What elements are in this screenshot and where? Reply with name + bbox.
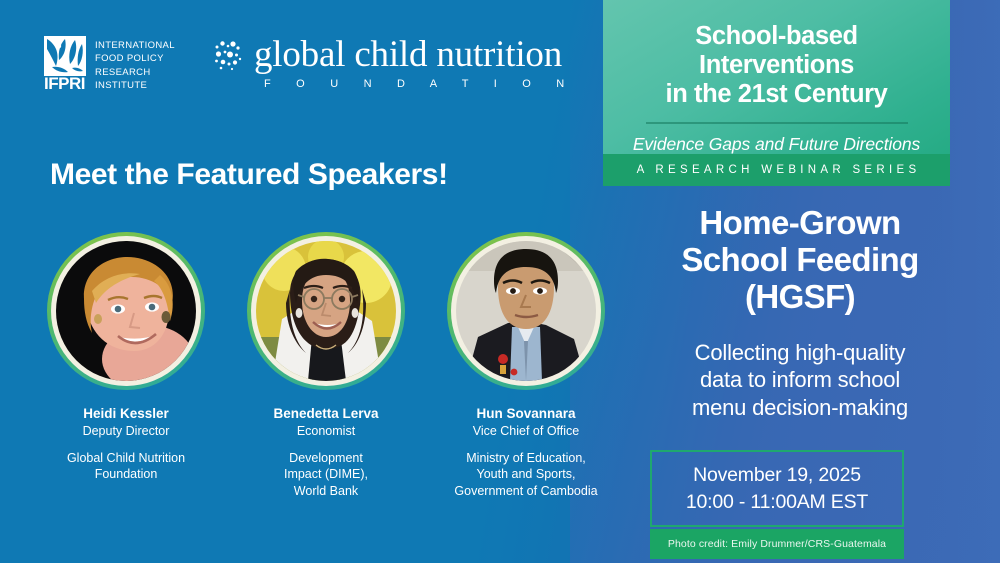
speaker-list: Heidi Kessler Deputy Director Global Chi…	[26, 232, 626, 499]
topic-description: Collecting high-quality data to inform s…	[622, 339, 978, 421]
ifpri-fullname: INTERNATIONAL FOOD POLICY RESEARCH INSTI…	[95, 36, 175, 93]
topic-title-line-1: Home-Grown	[622, 205, 978, 242]
event-time: 10:00 - 11:00AM EST	[686, 489, 868, 516]
portrait-benedetta-lerva	[256, 241, 396, 381]
series-banner: School-based Interventions in the 21st C…	[603, 0, 950, 186]
speaker-role: Deputy Director	[26, 423, 226, 439]
ifpri-line-4: INSTITUTE	[95, 79, 175, 92]
series-divider	[646, 122, 908, 124]
webinar-promo-poster: IFPRI INTERNATIONAL FOOD POLICY RESEARCH…	[0, 0, 1000, 563]
topic-description-line-3: menu decision-making	[622, 394, 978, 421]
speaker-name: Hun Sovannara	[426, 406, 626, 423]
series-title-line-2: in the 21st Century	[619, 80, 934, 109]
gcnf-foundation-label: F O U N D A T I O N	[212, 78, 562, 90]
event-date: November 19, 2025	[693, 462, 861, 489]
topic-description-line-1: Collecting high-quality	[622, 339, 978, 366]
speaker-org: Global Child Nutrition Foundation	[26, 450, 226, 483]
speaker-card: Benedetta Lerva Economist Development Im…	[226, 232, 426, 499]
gcnf-wordmark: global child nutrition	[254, 36, 562, 73]
avatar-ring	[447, 232, 605, 390]
topic-title-line-2: School Feeding	[622, 242, 978, 279]
speaker-name: Benedetta Lerva	[226, 406, 426, 423]
avatar-ring	[247, 232, 405, 390]
ifpri-logo: IFPRI INTERNATIONAL FOOD POLICY RESEARCH…	[44, 36, 175, 93]
photo-credit-text: Photo credit: Emily Drummer/CRS-Guatemal…	[668, 538, 886, 550]
series-strip-label: A RESEARCH WEBINAR SERIES	[633, 164, 921, 176]
portrait-hun-sovannara	[456, 241, 596, 381]
speaker-org: Development Impact (DIME), World Bank	[226, 450, 426, 499]
speaker-card: Hun Sovannara Vice Chief of Office Minis…	[426, 232, 626, 499]
ifpri-line-3: RESEARCH	[95, 66, 175, 79]
ifpri-acronym: IFPRI	[44, 75, 85, 92]
avatar-ring	[47, 232, 205, 390]
speaker-role: Vice Chief of Office	[426, 423, 626, 439]
series-title-line-1: School-based Interventions	[619, 22, 934, 80]
ifpri-sprout-logo-icon: IFPRI	[44, 36, 86, 90]
gcnf-logo: global child nutrition F O U N D A T I O…	[212, 36, 562, 90]
series-subtitle: Evidence Gaps and Future Directions	[619, 135, 934, 154]
photo-credit-strip: Photo credit: Emily Drummer/CRS-Guatemal…	[650, 529, 904, 559]
series-strip: A RESEARCH WEBINAR SERIES	[603, 154, 950, 186]
series-title: School-based Interventions in the 21st C…	[619, 22, 934, 109]
page-title: Meet the Featured Speakers!	[50, 158, 448, 192]
event-datetime-box: November 19, 2025 10:00 - 11:00AM EST	[650, 450, 904, 527]
speaker-name: Heidi Kessler	[26, 406, 226, 423]
topic-title: Home-Grown School Feeding (HGSF)	[622, 205, 978, 316]
topic-description-line-2: data to inform school	[622, 366, 978, 393]
speaker-card: Heidi Kessler Deputy Director Global Chi…	[26, 232, 226, 499]
topic-title-line-3: (HGSF)	[622, 279, 978, 316]
portrait-heidi-kessler	[56, 241, 196, 381]
ifpri-line-1: INTERNATIONAL	[95, 39, 175, 52]
speaker-org: Ministry of Education, Youth and Sports,…	[426, 450, 626, 499]
speaker-role: Economist	[226, 423, 426, 439]
gcnf-dot-cluster-icon	[212, 38, 246, 72]
ifpri-line-2: FOOD POLICY	[95, 52, 175, 65]
